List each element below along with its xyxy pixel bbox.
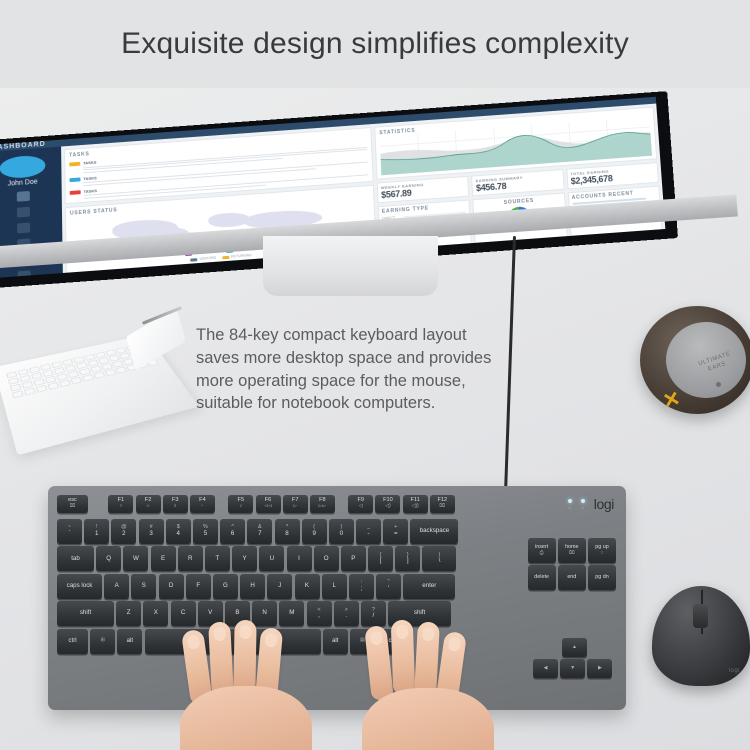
task-badge — [70, 190, 81, 195]
digit-1-key[interactable]: ! 1 — [84, 519, 109, 544]
key-label: K — [305, 583, 309, 590]
lock-icon: ⌧ — [569, 551, 575, 556]
digit-4-key[interactable]: $ 4 — [166, 519, 191, 544]
legend-label: RETURNING — [231, 253, 252, 259]
enter-key[interactable]: enter — [403, 574, 455, 599]
f2-key[interactable]: F2 ☼ — [136, 495, 161, 513]
task-badge — [69, 162, 80, 167]
key-label: W — [133, 556, 139, 563]
key-label: caps lock — [67, 583, 93, 590]
product-photo: DASHBOARD John Doe — [0, 88, 750, 750]
key-label: backspace — [420, 528, 450, 535]
headphone-earcup: ULTIMATE EARS × — [640, 306, 750, 414]
key-label: D — [169, 583, 173, 590]
o-key[interactable]: O — [314, 546, 339, 571]
key-label: Y — [243, 556, 247, 563]
key-label: 0 — [340, 531, 343, 538]
play-icon: ▻ — [293, 504, 297, 509]
f10-key[interactable]: F10 ◁) — [375, 495, 400, 513]
finger — [208, 621, 234, 696]
end-key[interactable]: end — [558, 565, 586, 590]
circle-icon: ○ — [119, 504, 122, 509]
d-key[interactable]: D — [159, 574, 184, 599]
key-label: O — [324, 556, 329, 563]
a-key[interactable]: A — [104, 574, 129, 599]
finger — [364, 625, 394, 701]
key-label: 3 — [149, 531, 152, 538]
task-badge — [69, 177, 80, 182]
page-up-key[interactable]: pg up ↕ — [588, 538, 616, 563]
key-label: H — [250, 583, 254, 590]
f9-key[interactable]: F9 ◁ — [348, 495, 373, 513]
f7-key[interactable]: F7 ▻ — [283, 495, 308, 513]
quote-key[interactable]: " ' — [376, 574, 401, 599]
key-label: 4 — [177, 531, 180, 538]
prev-track-icon: ◅◅ — [264, 504, 272, 509]
f11-key[interactable]: F11 ◁)) — [403, 495, 428, 513]
finger — [414, 621, 440, 696]
key-label: E — [161, 556, 165, 563]
search-icon: ⌕ — [174, 504, 177, 509]
legend-item: RETURNING — [222, 253, 252, 259]
key-label: tab — [71, 556, 80, 563]
finger — [233, 620, 256, 694]
caps-lock-key[interactable]: caps lock — [57, 574, 102, 599]
key-label: ; — [361, 586, 363, 593]
equals-key[interactable]: + = — [383, 519, 408, 544]
mute-icon: ◁ — [359, 504, 363, 509]
finger — [391, 620, 416, 695]
bracket-right-key[interactable]: } ] — [395, 546, 420, 571]
page-title: Exquisite design simplifies complexity — [121, 27, 629, 61]
f3-key[interactable]: F3 ⌕ — [163, 495, 188, 513]
stat-card: WEEKLY EARNING $567.89 — [377, 176, 470, 203]
key-label: ] — [407, 558, 409, 565]
key-label: P — [351, 556, 355, 563]
digit-2-key[interactable]: @ 2 — [111, 519, 136, 544]
key-label: ' — [388, 586, 389, 593]
bracket-left-key[interactable]: { [ — [368, 546, 393, 571]
f-key[interactable]: F — [186, 574, 211, 599]
backslash-key[interactable]: | \ — [422, 546, 456, 571]
t-key[interactable]: T — [205, 546, 230, 571]
key-label: L — [332, 583, 335, 590]
monitor: DASHBOARD John Doe — [0, 88, 678, 238]
chart-icon[interactable] — [17, 223, 30, 234]
semicolon-key[interactable]: : ; — [349, 574, 374, 599]
flexible-silicone-keyboard — [4, 326, 179, 446]
num-lock-led: ⌂ — [581, 499, 585, 510]
key-label: Q — [106, 556, 111, 563]
key-label: A — [115, 583, 119, 590]
key-label: U — [270, 556, 274, 563]
key-label: \ — [439, 558, 441, 565]
home-key[interactable]: home ⌧ — [558, 538, 586, 563]
lock-icon: ⌧ — [439, 504, 445, 509]
window-icon: ▫ — [202, 504, 204, 509]
p-key[interactable]: P — [341, 546, 366, 571]
left-palm — [180, 686, 312, 750]
key-label: R — [188, 556, 192, 563]
key-label: 6 — [231, 531, 234, 538]
nav-row-top[interactable]: insert ⎙ home ⌧ pg up ↕ — [528, 538, 616, 563]
brightness-icon: ☼ — [146, 504, 151, 509]
key-label: enter — [422, 583, 436, 590]
caps-lock-led: ⌂ — [568, 499, 572, 510]
legend-label: VISITORS — [200, 256, 216, 261]
typing-hands — [0, 608, 750, 750]
s-key[interactable]: S — [131, 574, 156, 599]
f4-key[interactable]: F4 ▫ — [190, 495, 215, 513]
print-screen-icon: ⎙ — [540, 551, 544, 556]
digit-3-key[interactable]: # 3 — [139, 519, 164, 544]
f5-key[interactable]: F5 ♪ — [228, 495, 253, 513]
backtick-key[interactable]: ~ ` — [57, 519, 82, 544]
music-icon: ♪ — [240, 504, 243, 509]
f12-key[interactable]: F12 ⌧ — [430, 495, 455, 513]
key-label: end — [567, 575, 576, 581]
headline-band: Exquisite design simplifies complexity — [0, 0, 750, 88]
e-key[interactable]: E — [151, 546, 176, 571]
key-label: pg dn — [595, 575, 609, 581]
product-description: The 84-key compact keyboard layout saves… — [196, 324, 506, 415]
k-key[interactable]: K — [295, 574, 320, 599]
dashboard-icon[interactable] — [16, 191, 29, 202]
key-label: = — [394, 531, 398, 538]
digit-5-key[interactable]: % 5 — [193, 519, 218, 544]
navigation-cluster[interactable]: insert ⎙ home ⌧ pg up ↕ delete end — [528, 538, 616, 590]
sidebar-user-name: John Doe — [8, 179, 38, 188]
clock-icon[interactable] — [16, 207, 29, 218]
f8-key[interactable]: F8 ▻▻ — [310, 495, 335, 513]
key-label: 1 — [95, 531, 98, 538]
function-row[interactable]: esc ⌧ F1 ○ F2 ☼ F3 ⌕ F4 ▫ F5 — [57, 495, 618, 513]
f1-key[interactable]: F1 ○ — [108, 495, 133, 513]
esc-key[interactable]: esc ⌧ — [57, 495, 88, 513]
key-label: S — [142, 583, 146, 590]
key-label: J — [278, 583, 281, 590]
refresh-icon[interactable] — [17, 270, 30, 278]
stat-card: EARNING SUMMARY $456.78 — [471, 169, 564, 196]
j-key[interactable]: J — [267, 574, 292, 599]
r-key[interactable]: R — [178, 546, 203, 571]
key-label: 5 — [204, 531, 207, 538]
u-key[interactable]: U — [259, 546, 284, 571]
digit-7-key[interactable]: & 7 — [247, 519, 272, 544]
key-label: 2 — [122, 531, 125, 538]
earcup-button — [716, 382, 721, 387]
digit-0-key[interactable]: ) 0 — [329, 519, 354, 544]
scroll-icon: ↕ — [601, 551, 604, 556]
y-key[interactable]: Y — [232, 546, 257, 571]
key-label: T — [216, 556, 220, 563]
key-label: F — [196, 583, 200, 590]
tab-key[interactable]: tab — [57, 546, 94, 571]
keyboard-brand-bar: ⌂ ⌂ logi — [568, 496, 614, 512]
key-label: - — [368, 531, 370, 538]
lock-icon: ⌧ — [70, 504, 76, 509]
key-label: delete — [534, 575, 549, 581]
f6-key[interactable]: F6 ◅◅ — [256, 495, 281, 513]
logi-logo: logi — [594, 496, 614, 512]
w-key[interactable]: W — [123, 546, 148, 571]
q-key[interactable]: Q — [96, 546, 121, 571]
insert-key[interactable]: insert ⎙ — [528, 538, 556, 563]
key-label: 7 — [258, 531, 261, 538]
digit-6-key[interactable]: ^ 6 — [220, 519, 245, 544]
l-key[interactable]: L — [322, 574, 347, 599]
nav-row-bottom[interactable]: delete end pg dn — [528, 565, 616, 590]
g-key[interactable]: G — [213, 574, 238, 599]
monitor-stand — [263, 236, 438, 296]
key-label: [ — [380, 558, 382, 565]
key-label: I — [298, 556, 300, 563]
i-key[interactable]: I — [287, 546, 312, 571]
volume-up-icon: ◁)) — [412, 504, 419, 509]
avatar — [0, 154, 46, 179]
key-label: G — [223, 583, 228, 590]
minus-key[interactable]: _ - — [356, 519, 381, 544]
digit-8-key[interactable]: * 8 — [275, 519, 300, 544]
volume-down-icon: ◁) — [385, 504, 391, 509]
backspace-key[interactable]: backspace — [410, 519, 458, 544]
next-track-icon: ▻▻ — [319, 504, 327, 509]
key-label: 8 — [285, 531, 288, 538]
right-palm — [362, 688, 494, 750]
delete-key[interactable]: delete — [528, 565, 556, 590]
page-down-key[interactable]: pg dn — [588, 565, 616, 590]
key-label: 9 — [312, 531, 315, 538]
legend-item: VISITORS — [191, 256, 216, 262]
key-label: ` — [68, 531, 70, 538]
digit-9-key[interactable]: ( 9 — [302, 519, 327, 544]
h-key[interactable]: H — [240, 574, 265, 599]
stat-card: TOTAL EARNING $2,345,678 — [566, 162, 659, 189]
